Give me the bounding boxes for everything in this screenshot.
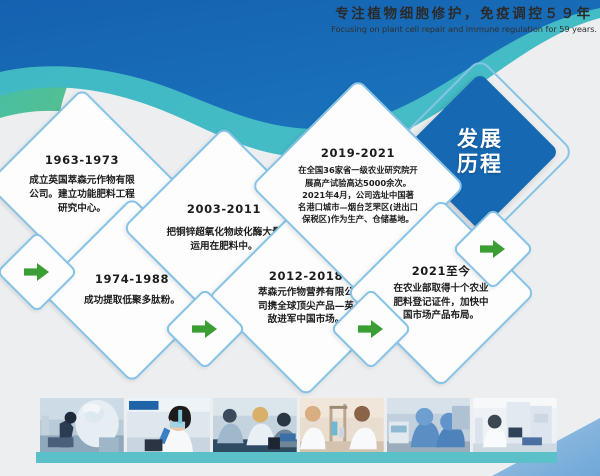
photo-strip-underline bbox=[36, 452, 557, 463]
arrow-right-icon bbox=[176, 300, 234, 358]
photo-microscope-cleanroom bbox=[40, 398, 124, 453]
photo-equipment-operator bbox=[473, 398, 557, 453]
arrow-diamond-1 bbox=[8, 243, 66, 301]
arrow-diamond-3 bbox=[342, 300, 400, 358]
timeline-year: 2019-2021 bbox=[321, 146, 395, 160]
timeline-year: 2012-2018 bbox=[269, 269, 343, 283]
timeline-year: 1963-1973 bbox=[45, 153, 119, 167]
arrow-right-icon bbox=[8, 243, 66, 301]
poster-canvas: 专注植物细胞修护，免疫调控５９年 Focusing on plant cell … bbox=[0, 0, 600, 476]
photo-cleanroom-workers bbox=[387, 398, 471, 453]
timeline-text: 在农业部取得十个农业肥料登记证件，加快中国市场产品布局。 bbox=[390, 282, 492, 323]
arrow-right-icon bbox=[342, 300, 400, 358]
timeline-year: 2003-2011 bbox=[187, 202, 261, 216]
arrow-diamond-4 bbox=[464, 220, 522, 278]
timeline-text: 在全国36家省一级农业研究院开展高产试验高达5000余次。2021年4月，公司选… bbox=[298, 164, 418, 225]
photo-lab-team bbox=[213, 398, 297, 453]
photo-researcher-vial bbox=[127, 398, 211, 453]
slogan-chinese: 专注植物细胞修护，免疫调控５９年 bbox=[330, 6, 598, 23]
photo-two-scientists bbox=[300, 398, 384, 453]
slogan-english: Focusing on plant cell repair and immune… bbox=[330, 23, 598, 35]
header-slogan: 专注植物细胞修护，免疫调控５９年 Focusing on plant cell … bbox=[330, 6, 598, 35]
arrow-diamond-2 bbox=[176, 300, 234, 358]
arrow-right-icon bbox=[464, 220, 522, 278]
section-title-line2: 历程 bbox=[457, 152, 503, 177]
section-title-line1: 发展 bbox=[457, 127, 503, 152]
photo-strip bbox=[40, 398, 557, 453]
timeline-year: 2021至今 bbox=[412, 263, 471, 279]
